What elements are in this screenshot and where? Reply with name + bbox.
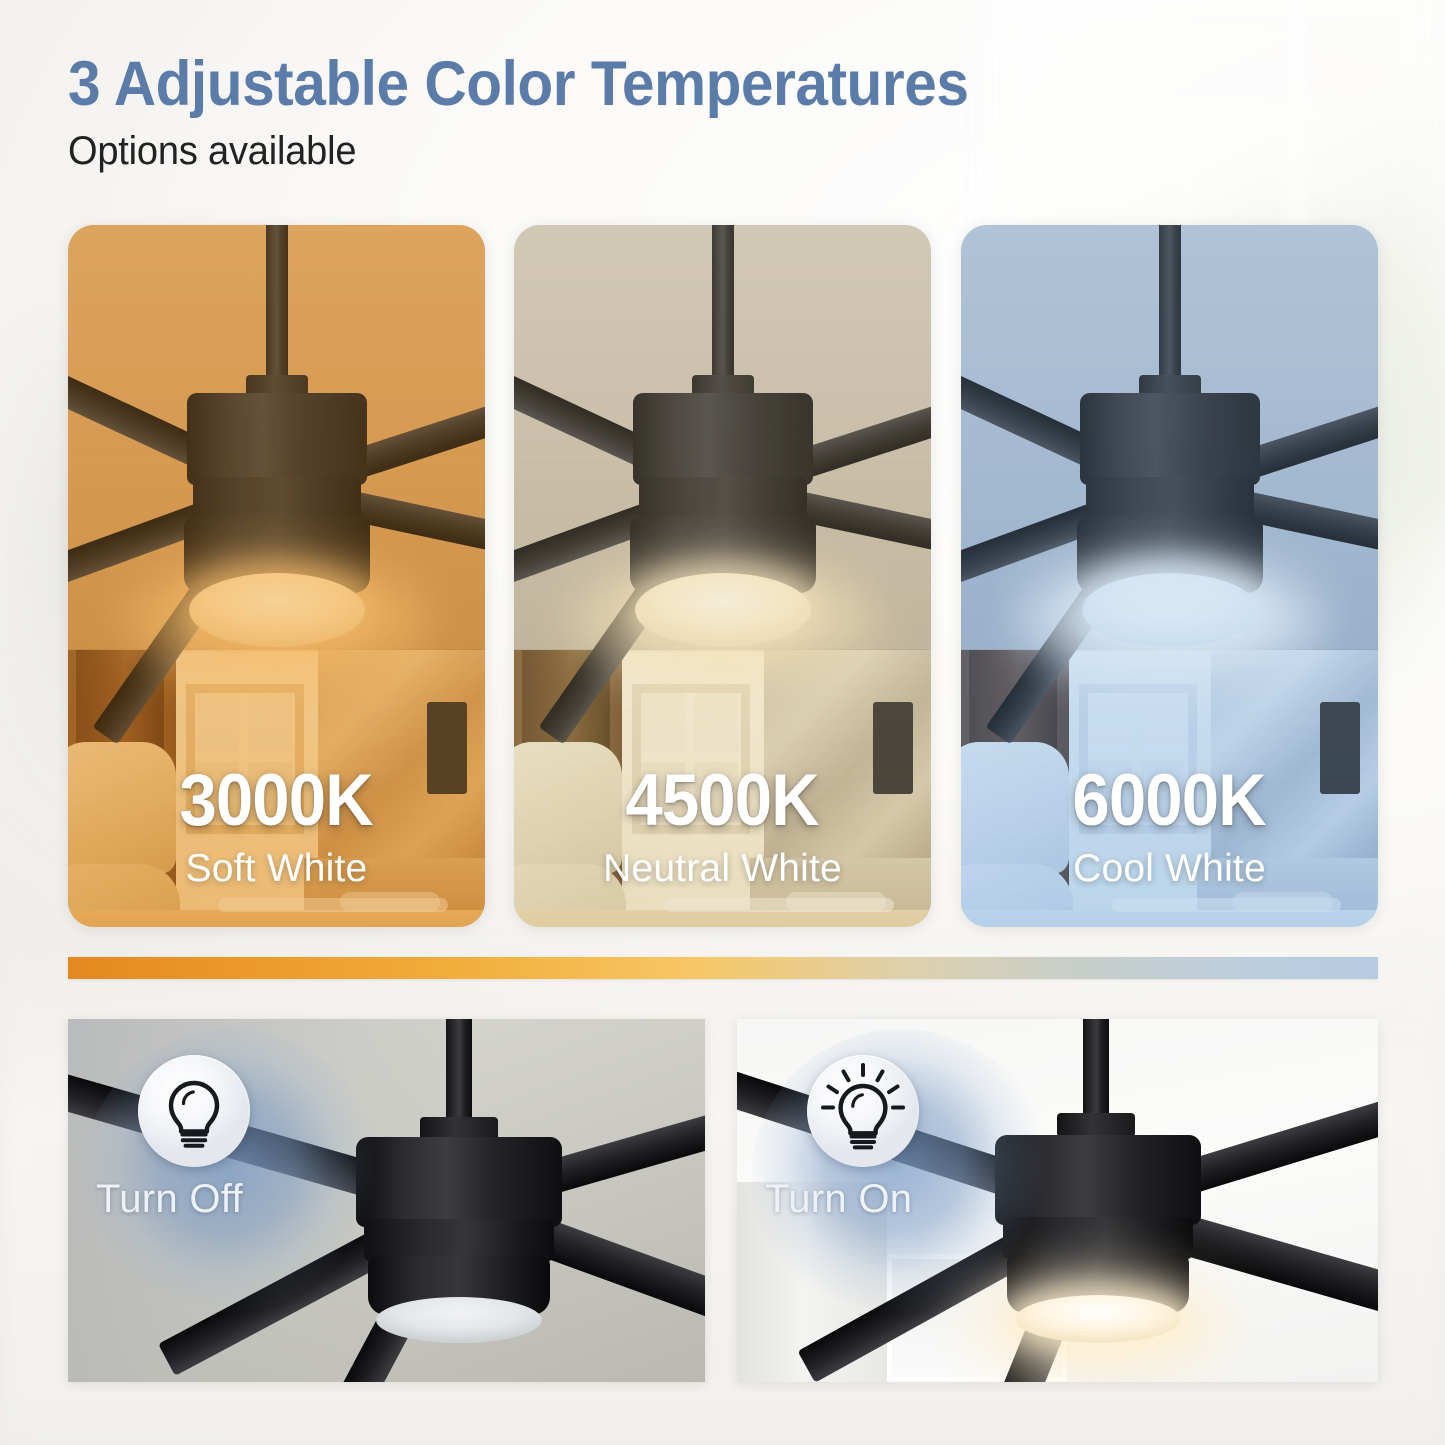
bulb-off-icon	[138, 1055, 250, 1167]
page-subtitle: Options available	[68, 129, 988, 174]
page-title: 3 Adjustable Color Temperatures	[68, 52, 968, 116]
card-caption: 3000K Soft White	[68, 764, 485, 891]
fan-downrod	[1083, 1019, 1109, 1117]
fan-rod-cap	[1057, 1113, 1135, 1137]
kelvin-name: Neutral White	[514, 847, 931, 891]
header-block: 3 Adjustable Color Temperatures Options …	[68, 52, 1036, 174]
temperature-card-4500k[interactable]: 4500K Neutral White	[514, 225, 931, 927]
kelvin-value: 3000K	[180, 764, 373, 837]
light-state-panel-row: Turn Off	[68, 1019, 1378, 1382]
temperature-card-3000k[interactable]: 3000K Soft White	[68, 225, 485, 927]
card-caption: 4500K Neutral White	[514, 764, 931, 891]
kelvin-name: Soft White	[68, 847, 485, 891]
light-panel-turn-on[interactable]: Turn On	[737, 1019, 1378, 1382]
fan-light-lens-off	[376, 1297, 542, 1343]
turn-off-label: Turn Off	[96, 1177, 368, 1222]
fan-downrod	[446, 1019, 472, 1121]
turn-on-label: Turn On	[765, 1177, 1037, 1222]
turn-off-badge[interactable]: Turn Off	[82, 1029, 382, 1329]
fan-motor-housing	[356, 1137, 562, 1227]
turn-on-badge[interactable]: Turn On	[751, 1029, 1051, 1329]
kelvin-value: 4500K	[626, 764, 819, 837]
bulb-on-icon	[807, 1055, 919, 1167]
card-caption: 6000K Cool White	[961, 764, 1378, 891]
kelvin-name: Cool White	[961, 847, 1378, 891]
warm-to-cool-gradient-bar	[68, 957, 1378, 979]
color-temperature-card-row: 3000K Soft White	[68, 225, 1378, 927]
kelvin-value: 6000K	[1073, 764, 1266, 837]
light-panel-turn-off[interactable]: Turn Off	[68, 1019, 705, 1382]
temperature-card-6000k[interactable]: 6000K Cool White	[961, 225, 1378, 927]
